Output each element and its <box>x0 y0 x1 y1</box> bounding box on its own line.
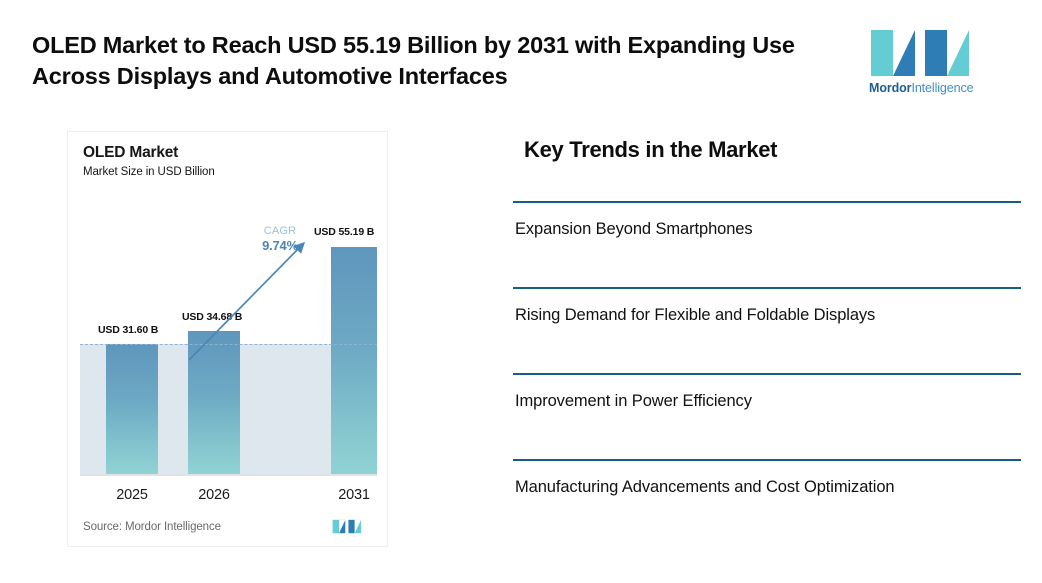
mordor-intelligence-mark <box>332 518 362 535</box>
x-axis-line <box>80 474 377 476</box>
trend-item[interactable]: Improvement in Power Efficiency <box>513 373 1021 459</box>
mordor-logo-wordmark: MordorIntelligence <box>869 81 974 95</box>
x-tick-label: 2026 <box>184 487 244 503</box>
wordmark-light: Intelligence <box>911 81 973 95</box>
cagr-value: 9.74% <box>245 238 315 253</box>
page-header: OLED Market to Reach USD 55.19 Billion b… <box>0 0 1042 118</box>
chart-source-row: Source: Mordor Intelligence <box>80 518 377 542</box>
mordor-logo-mark <box>869 28 972 78</box>
x-axis-ticks: 2025 2026 2031 <box>80 487 377 509</box>
trend-item-label: Expansion Beyond Smartphones <box>515 216 1013 243</box>
chart-title: OLED Market <box>83 144 178 162</box>
mordor-intelligence-logo: MordorIntelligence <box>869 28 974 100</box>
cagr-label: CAGR <box>245 225 315 237</box>
chart-plot-area: USD 31.60 B USD 34.68 B USD 55.19 B CAGR… <box>80 206 377 481</box>
trend-item[interactable]: Rising Demand for Flexible and Foldable … <box>513 287 1021 373</box>
key-trends-list: Expansion Beyond SmartphonesRising Deman… <box>513 201 1021 545</box>
page-title: OLED Market to Reach USD 55.19 Billion b… <box>32 30 822 92</box>
chart-subtitle: Market Size in USD Billion <box>83 166 215 178</box>
bar-2031 <box>331 247 377 474</box>
bar-value-label-2025: USD 31.60 B <box>98 324 158 336</box>
cagr-arrow-icon <box>185 234 320 364</box>
x-tick-label: 2025 <box>102 487 162 503</box>
bar-2025 <box>106 344 158 474</box>
chart-source-text: Source: Mordor Intelligence <box>83 521 221 533</box>
wordmark-bold: Mordor <box>869 81 911 95</box>
trend-item[interactable]: Manufacturing Advancements and Cost Opti… <box>513 459 1021 545</box>
key-trends-panel: Key Trends in the Market Expansion Beyon… <box>513 131 1021 551</box>
x-tick-label: 2031 <box>324 487 384 503</box>
bar-value-label-2031: USD 55.19 B <box>314 226 374 238</box>
trend-item-label: Rising Demand for Flexible and Foldable … <box>515 302 1013 329</box>
trend-item-label: Improvement in Power Efficiency <box>515 388 1013 415</box>
chart-card: OLED Market Market Size in USD Billion U… <box>67 131 388 547</box>
column-band <box>80 344 106 474</box>
cagr-annotation: CAGR 9.74% <box>245 225 315 253</box>
trend-item-label: Manufacturing Advancements and Cost Opti… <box>515 474 1013 501</box>
column-band <box>158 344 188 474</box>
key-trends-title: Key Trends in the Market <box>524 137 777 163</box>
trend-item[interactable]: Expansion Beyond Smartphones <box>513 201 1021 287</box>
